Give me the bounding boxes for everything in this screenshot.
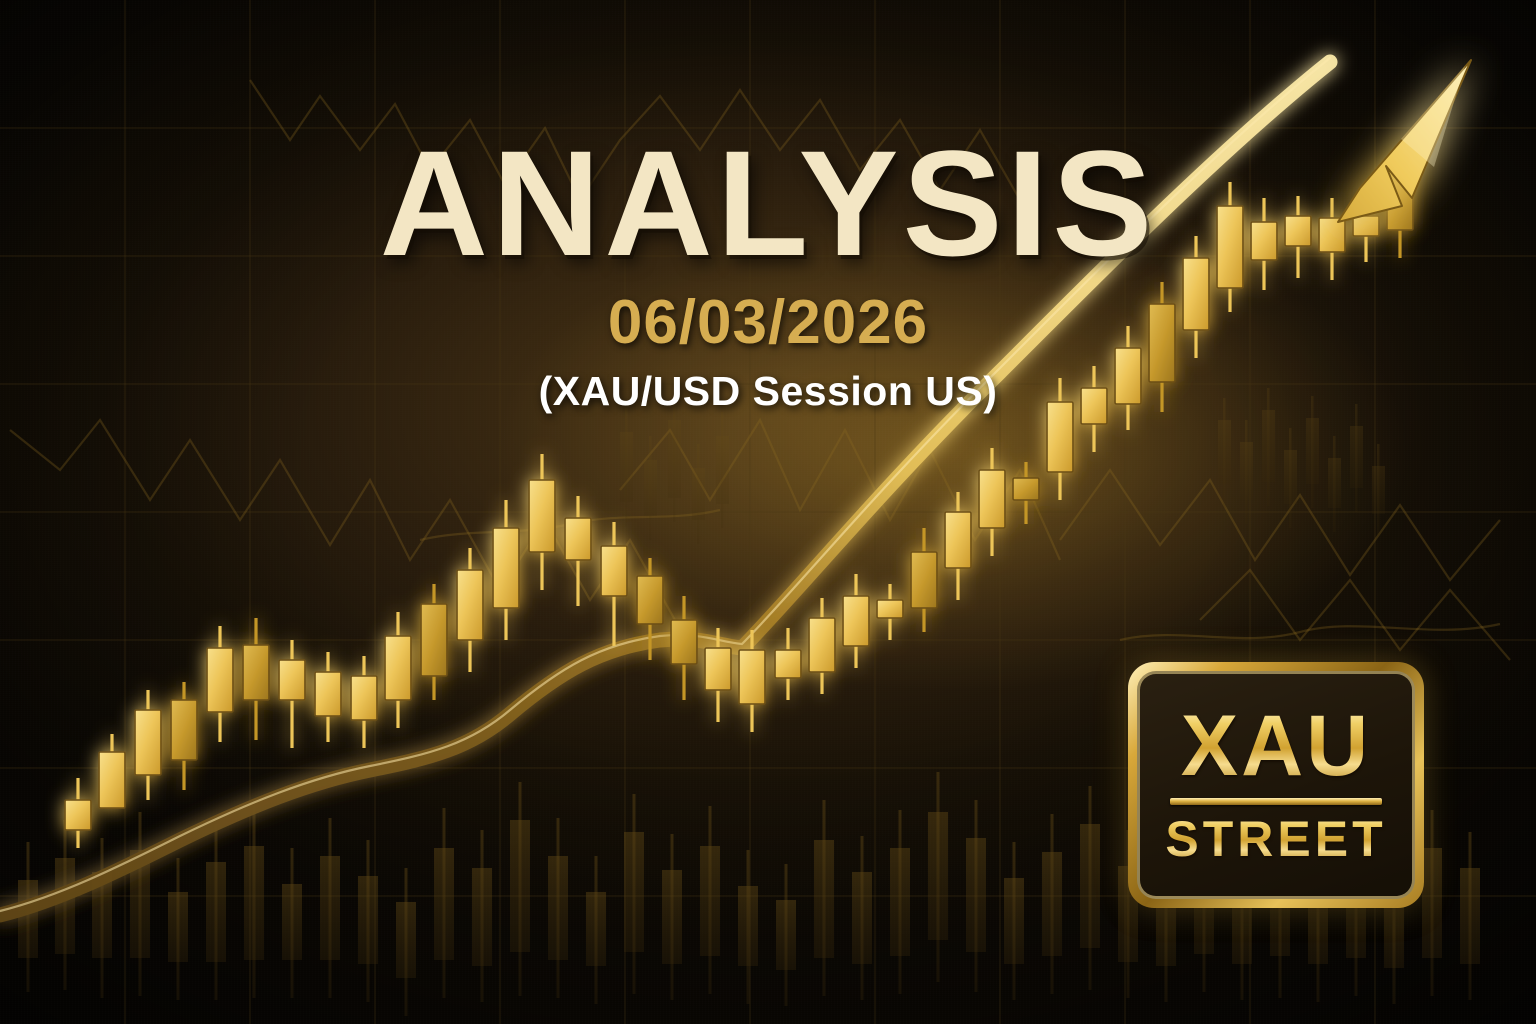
page-title: ANALYSIS (0, 132, 1536, 275)
logo-xau-text: XAU (1181, 706, 1372, 788)
session-label: (XAU/USD Session US) (0, 368, 1536, 415)
logo-inner-frame: XAU STREET (1137, 671, 1415, 899)
analysis-poster: ANALYSIS 06/03/2026 (XAU/USD Session US)… (0, 0, 1536, 1024)
logo-divider (1170, 798, 1382, 805)
analysis-date: 06/03/2026 (0, 287, 1536, 358)
logo-street-text: STREET (1165, 814, 1386, 864)
xau-street-logo[interactable]: XAU STREET (1128, 662, 1424, 908)
title-block: ANALYSIS 06/03/2026 (XAU/USD Session US) (0, 132, 1536, 415)
